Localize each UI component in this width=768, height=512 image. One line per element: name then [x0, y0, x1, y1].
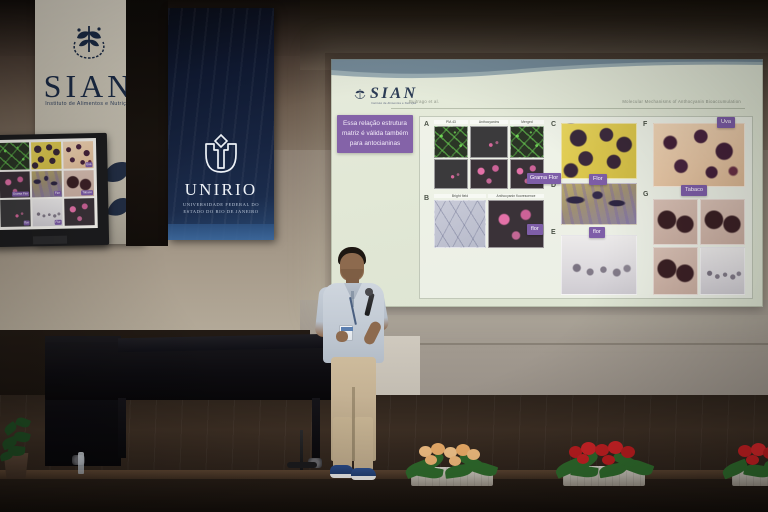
sian-leaf-wreath-icon	[65, 18, 113, 66]
slide-leaf-icon	[353, 88, 367, 100]
mini-tag: Flor	[54, 220, 61, 225]
micrograph-g3	[653, 247, 698, 295]
micrograph-g2	[700, 199, 745, 245]
mini-micrograph	[31, 142, 62, 169]
mini-micrograph: Tabaco	[64, 170, 95, 197]
tag-flor-left: flor	[527, 224, 543, 235]
flower-planter-3	[718, 443, 768, 486]
mini-tag: Uva	[85, 162, 92, 167]
panel-letter-a: A	[424, 121, 429, 128]
mini-micrograph: Flor	[32, 199, 63, 226]
micrograph-a2	[470, 126, 508, 158]
tag-tabaco: Tabaco	[681, 185, 707, 196]
micrograph-a4	[434, 159, 468, 189]
micrograph-a1	[434, 126, 468, 158]
mini-tag: flor	[23, 220, 29, 225]
handheld-microphone-head	[365, 288, 373, 296]
panel-letter-c: C	[551, 121, 556, 128]
presenter-leg-left	[333, 417, 352, 471]
mini-micrograph: Uva	[63, 141, 94, 168]
mini-tag: Tabaco	[81, 190, 93, 195]
mini-micrograph	[0, 142, 30, 169]
slide-callout-box: Essa relação estrutura matriz é válida t…	[337, 115, 413, 153]
micrograph-b1	[434, 200, 486, 248]
micrograph-f	[653, 123, 745, 187]
confidence-monitor: Uva Grama Flor Flor Tabaco flor Flor	[0, 133, 109, 247]
planter-bloom	[449, 456, 461, 466]
panel-letter-f: F	[643, 121, 647, 128]
panel-letter-b: B	[424, 195, 429, 202]
panel-a-header-3: Merged	[510, 120, 544, 124]
planter-bloom	[763, 447, 768, 459]
slide-header-citation: Buitrago et al.	[409, 99, 439, 104]
monitor-stand	[33, 236, 67, 245]
piano-leg-left	[118, 398, 126, 458]
panel-b-header-2: Anthocyanin fluorescence	[488, 194, 544, 198]
mini-micrograph: flor	[0, 200, 31, 227]
mini-micrograph: Flor	[32, 170, 63, 197]
mini-tag: Flor	[54, 191, 61, 196]
banner-unirio: UNIRIO UNIVERSIDADE FEDERAL DO ESTADO DO…	[168, 8, 274, 240]
potted-plant	[0, 408, 34, 480]
slide-header-wave-decoration	[331, 59, 763, 85]
slide-header-rule	[391, 108, 745, 109]
panel-letter-g: G	[643, 191, 648, 198]
micrograph-e	[561, 235, 637, 295]
unirio-monogram-icon	[202, 134, 240, 174]
mini-micrograph	[64, 198, 95, 225]
planter-bloom	[425, 455, 437, 465]
micrograph-a5	[470, 159, 508, 189]
monitor-screen: Uva Grama Flor Flor Tabaco flor Flor	[0, 138, 98, 230]
planter-bloom	[746, 455, 759, 465]
unirio-wordmark: UNIRIO	[168, 180, 274, 200]
projection-screen: SIAN Instituto de Alimentos e Nutrição B…	[331, 59, 763, 307]
flower-planter-1	[403, 443, 503, 486]
tag-grama-flor: Grama Flor	[527, 173, 561, 184]
flower-planter-2	[553, 441, 658, 486]
micrograph-g4	[700, 247, 745, 295]
slide-header-title: Molecular Mechanisms of Anthocyanin Bioa…	[622, 99, 741, 104]
planter-bloom	[621, 446, 635, 458]
presenter-shoe-sole-right	[351, 476, 376, 480]
monitor-slide-thumbnail: Uva Grama Flor Flor Tabaco flor Flor	[0, 141, 95, 227]
planter-bloom	[602, 455, 615, 465]
presenter	[310, 247, 394, 495]
panel-a-header-1: PM-43	[434, 120, 468, 124]
presenter-pants-seam	[352, 387, 355, 461]
mini-micrograph: Grama Flor	[0, 171, 30, 198]
screenshot-root: SIAN Instituto de Alimentos e Nutrição U…	[0, 0, 768, 512]
panel-letter-e: E	[551, 229, 556, 236]
panel-b-header-1: Bright field	[434, 194, 486, 198]
presenter-leg-right	[354, 417, 373, 471]
planter-bloom	[431, 443, 445, 455]
planter-bloom	[577, 454, 589, 464]
unirio-banner-footer	[168, 224, 274, 240]
banner-gap-dark	[126, 0, 168, 246]
unirio-subtitle-line1: UNIVERSIDADE FEDERAL DO	[168, 202, 274, 207]
presenter-hand-left	[336, 331, 348, 342]
tag-uva: Uva	[717, 117, 735, 128]
micrograph-d	[561, 183, 637, 225]
water-bottle	[78, 452, 84, 474]
unirio-subtitle-line2: ESTADO DO RIO DE JANEIRO	[168, 209, 274, 214]
micrograph-c	[561, 123, 637, 179]
tag-flor-lower: flor	[589, 227, 605, 238]
plant-leaf	[15, 416, 31, 430]
planter-bloom	[467, 449, 480, 460]
tag-flor-center: Flor	[589, 174, 607, 185]
panel-a-header-2: Anthocyanins	[470, 120, 508, 124]
micrograph-g1	[653, 199, 698, 245]
mini-tag: Grama Flor	[12, 192, 29, 197]
micrograph-a3	[510, 126, 544, 158]
